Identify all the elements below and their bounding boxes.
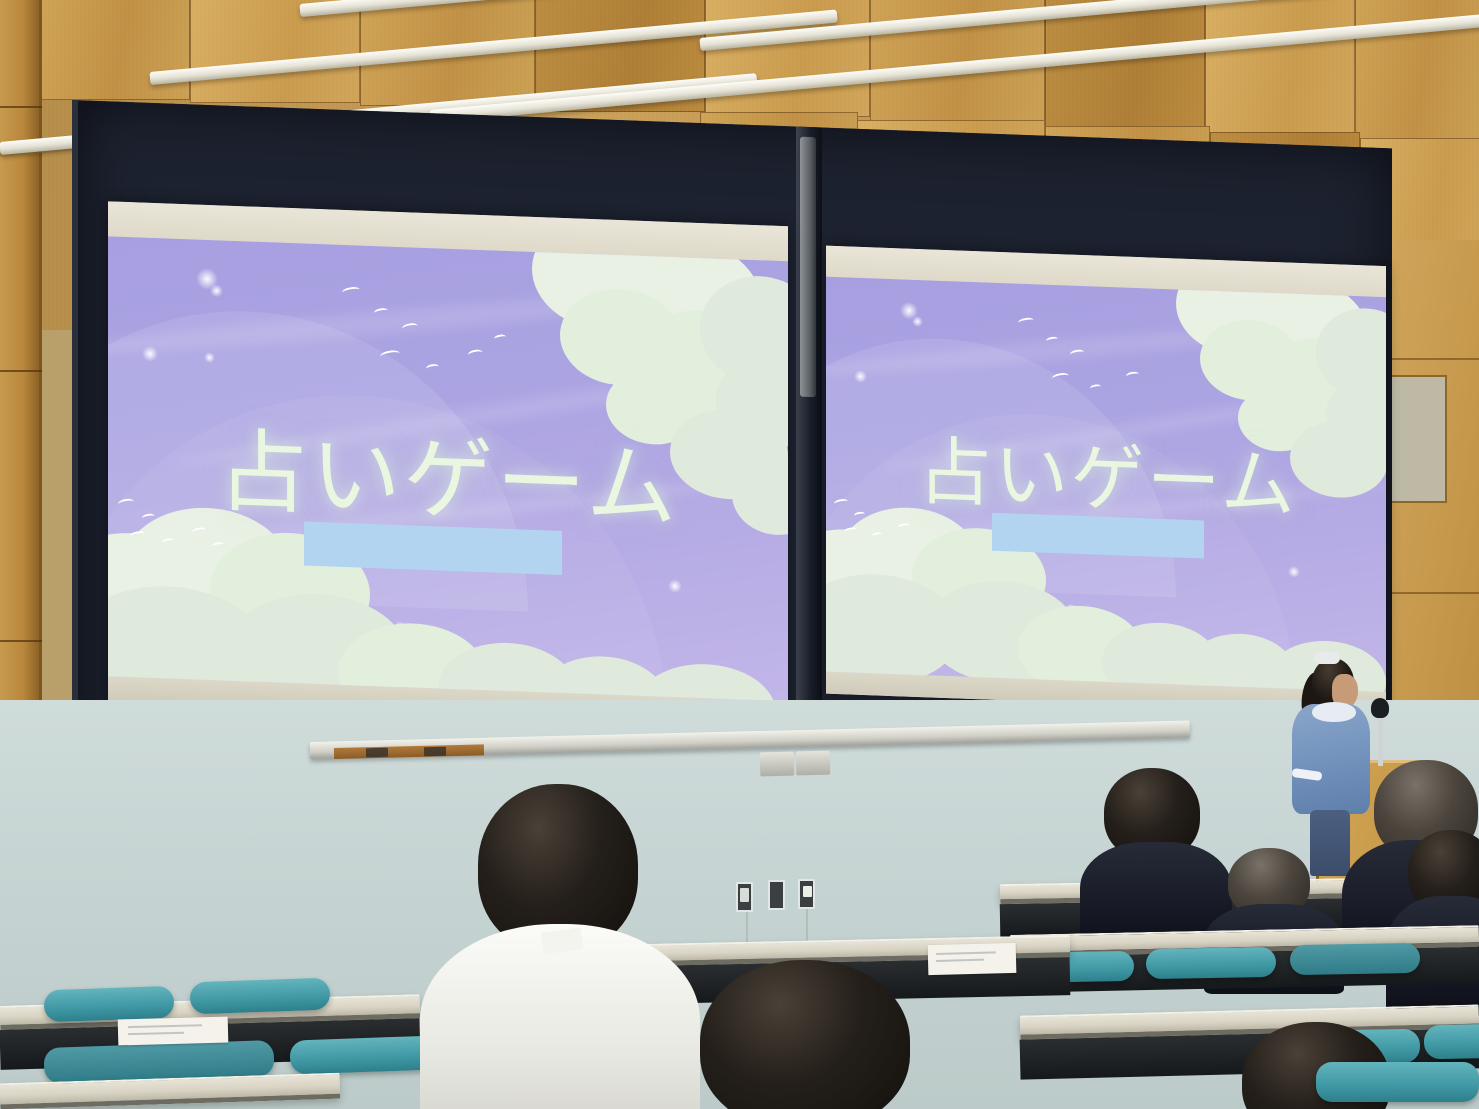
outlet-plug: [740, 888, 749, 902]
presenter-hair-tie: [1314, 652, 1340, 664]
bird-icon: [379, 349, 400, 361]
slide-right: 占いゲーム: [826, 277, 1386, 692]
wall-outlet-2[interactable]: [768, 880, 785, 910]
bird-icon: [494, 334, 507, 342]
lecture-hall-photo: 占いゲーム: [0, 0, 1479, 1109]
chair[interactable]: [289, 1035, 440, 1074]
handout-sheet[interactable]: [118, 1017, 229, 1046]
audience-member-white-shirt: [430, 784, 690, 1109]
projection-screen-right: 占いゲーム: [826, 246, 1386, 715]
chair[interactable]: [1424, 1023, 1479, 1059]
audience-member: [1086, 768, 1216, 928]
chair[interactable]: [43, 986, 174, 1023]
projection-screen-left: 占いゲーム: [108, 201, 788, 726]
slide-left: 占いゲーム: [108, 236, 788, 701]
microphone-icon: [1371, 698, 1389, 718]
slide-title-left: 占いゲーム: [218, 398, 679, 545]
rail-bracket: [796, 751, 831, 776]
bird-icon: [341, 286, 360, 297]
screen-divider-post: [796, 127, 822, 788]
bird-icon: [1017, 317, 1034, 327]
chalk-piece[interactable]: [366, 748, 388, 758]
bird-icon: [1089, 384, 1101, 392]
bird-icon: [1125, 371, 1139, 380]
wall-outlet-3[interactable]: [798, 879, 815, 909]
head: [700, 960, 910, 1109]
bird-icon: [467, 349, 483, 359]
bird-icon: [425, 363, 439, 372]
presenter-collar: [1312, 702, 1356, 722]
audience-member-front-center: [690, 960, 950, 1109]
chalk-piece[interactable]: [424, 747, 446, 757]
chair[interactable]: [1146, 947, 1277, 979]
slide-title-right: 占いゲーム: [918, 412, 1297, 533]
redacted-name-bar-right: [992, 513, 1204, 559]
chair[interactable]: [1290, 943, 1421, 975]
wall-outlet-1[interactable]: [736, 882, 753, 912]
outlet-plug: [803, 886, 812, 897]
redacted-name-bar-left: [304, 522, 562, 575]
chair[interactable]: [1316, 1062, 1479, 1102]
audience-member: [1208, 800, 1328, 950]
divider-metal-post: [800, 137, 816, 398]
rail-bracket: [760, 752, 795, 777]
wall-vent-panel: [1385, 375, 1447, 503]
chair[interactable]: [189, 978, 330, 1015]
